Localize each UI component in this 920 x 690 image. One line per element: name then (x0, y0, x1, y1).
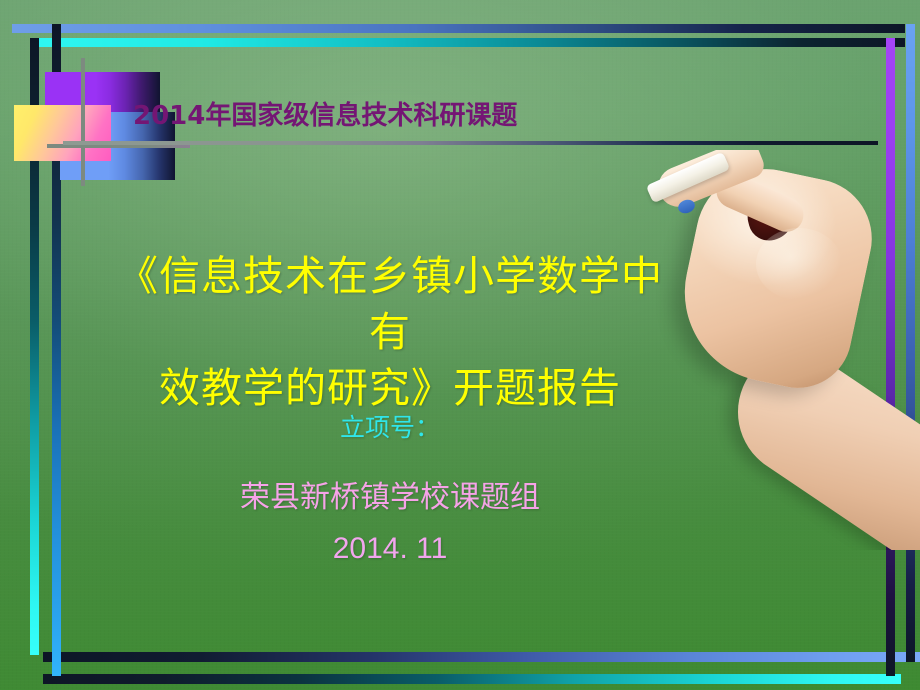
finger-gap-shadow (743, 191, 798, 245)
frame-right-blue-bar (906, 24, 915, 662)
frame-bottom-cyan-bar (43, 674, 901, 684)
main-title-line-1: 《信息技术在乡镇小学数学中有 (110, 248, 670, 360)
project-number-label: 立项号： (110, 408, 670, 444)
hand-back-shape (668, 156, 883, 398)
frame-bottom-blue-bar (43, 652, 920, 662)
slide-header-title: 2014年国家级信息技术科研课题 (133, 95, 517, 132)
slide-main-title: 《信息技术在乡镇小学数学中有 效教学的研究》开题报告 (110, 248, 670, 416)
organization-name: 荣县新桥镇学校课题组 (110, 472, 670, 516)
knuckle-highlight (756, 228, 842, 300)
fingernail (676, 197, 696, 215)
hand-holding-chalk-image (630, 150, 920, 550)
header-divider-rule (63, 141, 878, 145)
slide-canvas: 2014年国家级信息技术科研课题 《信息技术在乡镇小学数学中有 效教学的研究》开… (0, 0, 920, 690)
deco-pink-yellow-square (14, 105, 111, 161)
deco-crosshair-vertical (81, 58, 85, 186)
slide-date: 2014. 11 (110, 532, 670, 566)
thumb-shape (711, 169, 809, 237)
frame-right-purple-bar (886, 38, 895, 676)
chalk-stick (646, 152, 730, 204)
index-finger-shape (652, 150, 767, 213)
